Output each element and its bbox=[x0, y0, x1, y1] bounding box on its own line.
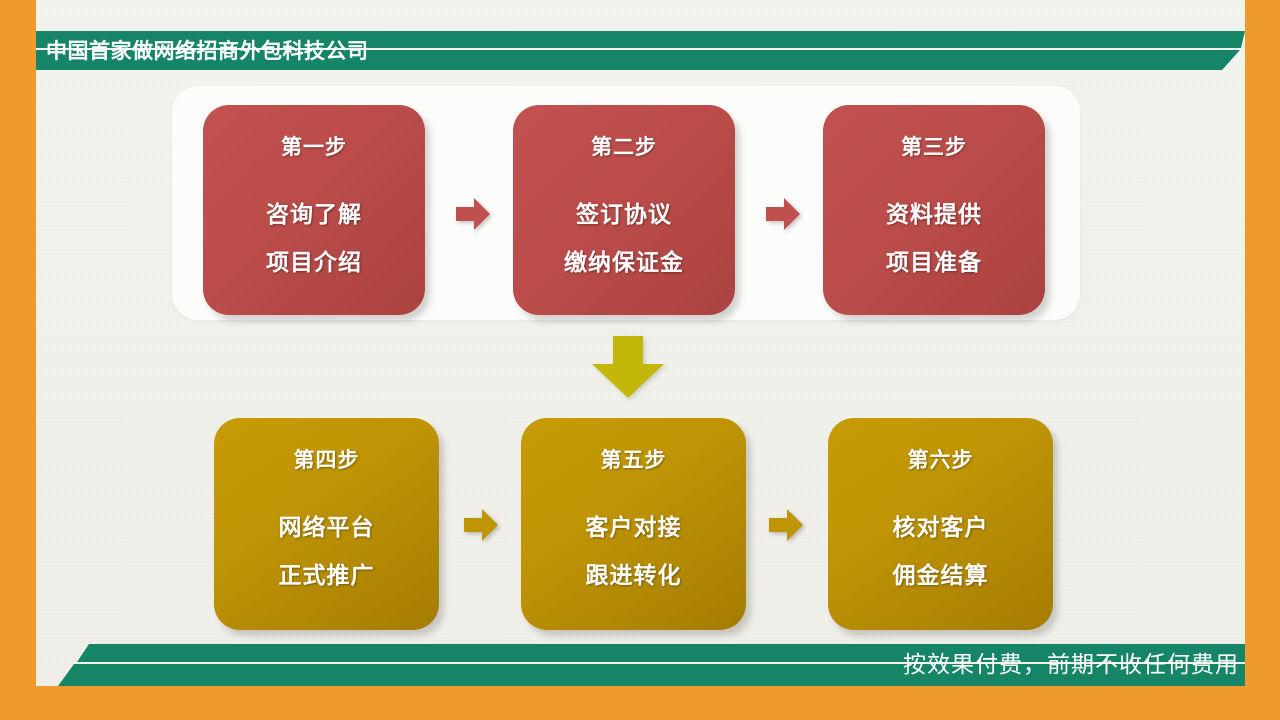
step-card-4-number: 第四步 bbox=[214, 444, 439, 474]
arrow-right-icon-step1-step2 bbox=[456, 198, 490, 230]
step-card-2-line1: 签订协议 bbox=[513, 191, 735, 239]
step-card-5[interactable]: 第五步 客户对接 跟进转化 bbox=[521, 418, 746, 630]
step-card-3-lines: 资料提供 项目准备 bbox=[823, 191, 1045, 287]
step-card-2-line2: 缴纳保证金 bbox=[513, 239, 735, 287]
step-card-2[interactable]: 第二步 签订协议 缴纳保证金 bbox=[513, 105, 735, 315]
step-card-4-line2: 正式推广 bbox=[214, 552, 439, 600]
arrow-right-icon-step2-step3 bbox=[766, 198, 800, 230]
step-card-2-lines: 签订协议 缴纳保证金 bbox=[513, 191, 735, 287]
step-card-4-line1: 网络平台 bbox=[214, 504, 439, 552]
step-card-6-lines: 核对客户 佣金结算 bbox=[828, 504, 1053, 600]
step-card-6[interactable]: 第六步 核对客户 佣金结算 bbox=[828, 418, 1053, 630]
step-card-6-line2: 佣金结算 bbox=[828, 552, 1053, 600]
step-card-5-lines: 客户对接 跟进转化 bbox=[521, 504, 746, 600]
step-card-1-line2: 项目介绍 bbox=[203, 239, 425, 287]
step-card-6-line1: 核对客户 bbox=[828, 504, 1053, 552]
step-card-5-line2: 跟进转化 bbox=[521, 552, 746, 600]
step-card-3-number: 第三步 bbox=[823, 131, 1045, 161]
step-card-5-line1: 客户对接 bbox=[521, 504, 746, 552]
step-card-6-number: 第六步 bbox=[828, 444, 1053, 474]
step-card-4-lines: 网络平台 正式推广 bbox=[214, 504, 439, 600]
footer-tagline: 按效果付费，前期不收任何费用 bbox=[903, 645, 1239, 686]
arrow-right-icon-step5-step6 bbox=[769, 509, 803, 541]
step-card-5-number: 第五步 bbox=[521, 444, 746, 474]
step-card-3[interactable]: 第三步 资料提供 项目准备 bbox=[823, 105, 1045, 315]
step-card-3-line2: 项目准备 bbox=[823, 239, 1045, 287]
step-card-1[interactable]: 第一步 咨询了解 项目介绍 bbox=[203, 105, 425, 315]
step-card-2-number: 第二步 bbox=[513, 131, 735, 161]
step-card-1-number: 第一步 bbox=[203, 131, 425, 161]
step-card-3-line1: 资料提供 bbox=[823, 191, 1045, 239]
header-title: 中国首家做网络招商外包科技公司 bbox=[46, 33, 369, 69]
step-card-1-line1: 咨询了解 bbox=[203, 191, 425, 239]
step-card-1-lines: 咨询了解 项目介绍 bbox=[203, 191, 425, 287]
step-card-4[interactable]: 第四步 网络平台 正式推广 bbox=[214, 418, 439, 630]
arrow-right-icon-step4-step5 bbox=[464, 509, 498, 541]
arrow-down-icon-step3-step4 bbox=[592, 336, 664, 398]
slide-canvas: 中国首家做网络招商外包科技公司 第一步 咨询了解 项目介绍 第二步 签订协议 缴… bbox=[0, 0, 1280, 720]
